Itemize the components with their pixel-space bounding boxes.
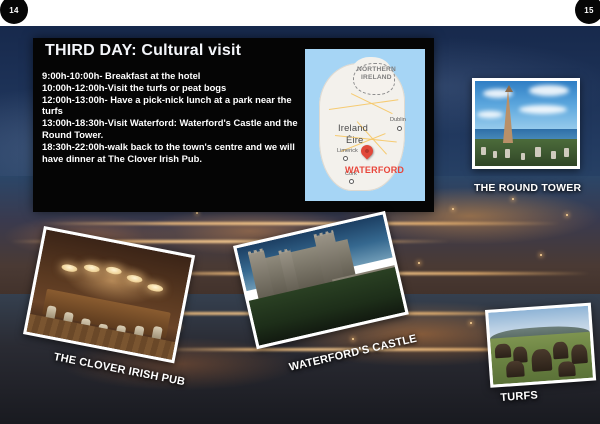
slide-canvas: 14 15 THIRD DAY: Cultural visit 9:00h-10… [0, 0, 600, 424]
photo-turf-pile [494, 343, 511, 358]
photo-cloud [529, 85, 569, 96]
photo-image-round-tower [475, 81, 577, 166]
schedule-item: 10:00h-12:00h-Visit the turfs or peat bo… [42, 82, 304, 94]
map-region-label-line1: NORTHERN [357, 66, 396, 73]
photo-turf-pile [571, 344, 588, 364]
photo-round-tower-shape [503, 89, 513, 143]
map-city-label-limerick: Limerick [337, 148, 358, 154]
schedule-item: 18:30h-22:00h-walk back to the town's ce… [42, 141, 304, 165]
photo-gravestone [564, 148, 569, 157]
content-panel: THIRD DAY: Cultural visit 9:00h-10:00h- … [33, 38, 434, 212]
map-city-label-dublin: Dublin [390, 117, 406, 123]
schedule-item: 9:00h-10:00h- Breakfast at the hotel [42, 70, 304, 82]
photo-frame [472, 78, 580, 169]
photo-gravestone [521, 153, 525, 160]
photo-gravestone [481, 147, 486, 155]
photo-round-tower-cap [505, 85, 513, 92]
photo-card-turfs [485, 303, 596, 388]
photo-frame [485, 303, 596, 388]
map-city-dot-limerick [343, 156, 348, 161]
schedule-item: 13:00h-18:30h-Visit Waterford: Waterford… [42, 117, 304, 141]
photo-turf-pile [552, 341, 568, 359]
map-city-dot-cork [349, 179, 354, 184]
photo-gravestone [505, 149, 510, 158]
photo-gravestone [493, 151, 497, 158]
photo-turf-pile [558, 361, 576, 377]
photo-cloud [477, 111, 503, 118]
photo-gravestone [535, 147, 541, 157]
photo-card-round-tower [472, 78, 580, 169]
background-light-row [40, 222, 560, 225]
map-of-ireland: NORTHERN IRELAND Ireland Éire Dublin Lim… [305, 49, 425, 201]
photo-graveyard-ground [475, 139, 577, 166]
map-country-label: Ireland [338, 122, 368, 133]
map-country-label-native: Éire [346, 134, 363, 145]
schedule-list: 9:00h-10:00h- Breakfast at the hotel 10:… [42, 70, 304, 164]
panel-title: THIRD DAY: Cultural visit [45, 42, 241, 60]
photo-turf-pile [531, 349, 552, 372]
photo-image-turfs [488, 306, 593, 385]
schedule-item: 12:00h-13:00h- Have a pick-nick lunch at… [42, 94, 304, 118]
map-region-label-line2: IRELAND [361, 74, 392, 81]
photo-gravestone [551, 151, 556, 159]
photo-cloud [519, 105, 567, 114]
top-white-band [0, 0, 600, 26]
photo-caption-round-tower: THE ROUND TOWER [474, 182, 581, 194]
photo-turf-pile [506, 360, 525, 377]
map-marker-label-waterford: WATERFORD [345, 165, 404, 175]
page-number-badge-right: 15 [575, 0, 600, 24]
map-city-dot-dublin [397, 126, 402, 131]
